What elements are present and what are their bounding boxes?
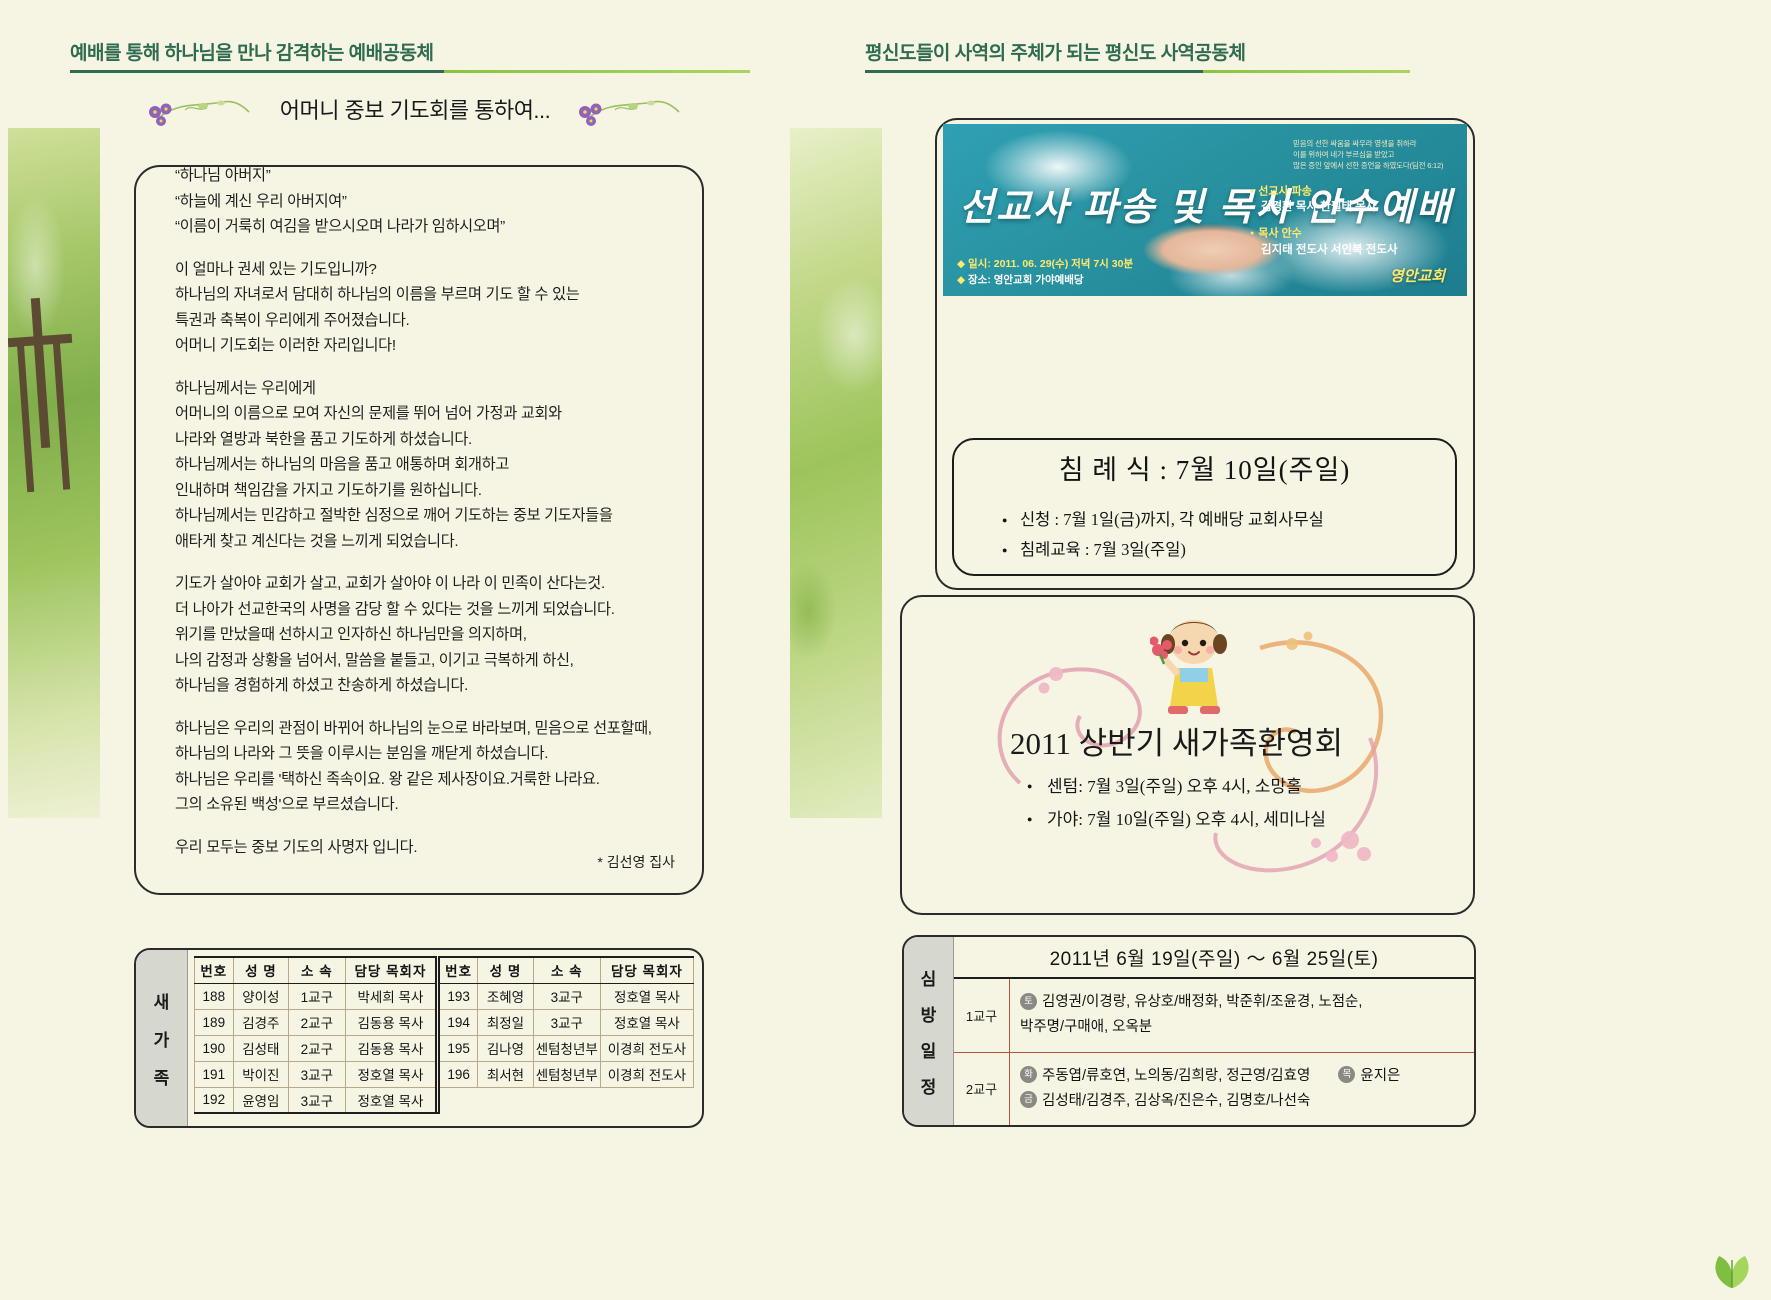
col-header-no: 번호 [195, 957, 234, 983]
poster-place: 장소: 영안교회 가야예배당 [957, 272, 1133, 288]
cell-no: 191 [195, 1061, 234, 1087]
visitation-segment: 금김성태/김경주, 김상옥/진은수, 김명호/나선숙 [1020, 1089, 1310, 1114]
cell-no: 189 [195, 1009, 234, 1035]
list-item: 센텀: 7월 3일(주일) 오후 4시, 소망홀 [1025, 770, 1445, 803]
visitation-name-text: 김영권/이경랑, 유상호/배정화, 박준휘/조윤경, 노점순, [1042, 994, 1362, 1010]
cell-group: 3교구 [533, 983, 600, 1009]
right-header-text: 평신도들이 사역의 주체가 되는 평신도 사역공동체 [865, 38, 1410, 70]
cell-pastor: 이경희 전도사 [600, 1035, 693, 1061]
list-item: 신청 : 7월 1일(금)까지, 각 예배당 교회사무실 [1000, 505, 1440, 535]
day-badge: 목 [1338, 1066, 1355, 1083]
poster-item-head: 목사 안수 [1250, 226, 1455, 241]
col-header-name: 성 명 [478, 957, 533, 983]
cell-group: 센텀청년부 [533, 1035, 600, 1061]
day-badge: 화 [1020, 1066, 1037, 1083]
visitation-names: 토김영권/이경랑, 유상호/배정화, 박준휘/조윤경, 노점순, 박주명/구매애… [1010, 985, 1474, 1045]
baptism-title: 침 례 식 : 7월 10일(주일) [952, 448, 1457, 487]
cell-name: 김경주 [233, 1009, 288, 1035]
cell-group: 센텀청년부 [533, 1061, 600, 1087]
table-row: 188 양이성 1교구 박세희 목사 193 조혜영 3교구 정호열 목사 [195, 983, 694, 1009]
cell-group: 2교구 [289, 1035, 346, 1061]
cell-pastor: 김동용 목사 [345, 1035, 436, 1061]
right-header-rule [865, 70, 1410, 73]
cell-pastor: 정호열 목사 [345, 1087, 436, 1113]
visitation-rows: 1교구 토김영권/이경랑, 유상호/배정화, 박준휘/조윤경, 노점순, 박주명… [954, 979, 1474, 1125]
visitation-line: 토김영권/이경랑, 유상호/배정화, 박준휘/조윤경, 노점순, [1020, 990, 1464, 1015]
left-page-header: 예배를 통해 하나님을 만나 감격하는 예배공동체 [70, 38, 750, 80]
visitation-district: 2교구 [954, 1053, 1010, 1126]
poster-footer: 일시: 2011. 06. 29(수) 저녁 7시 30분 장소: 영안교회 가… [957, 256, 1133, 288]
visitation-row: 1교구 토김영권/이경랑, 유상호/배정화, 박준휘/조윤경, 노점순, 박주명… [954, 979, 1474, 1053]
visitation-schedule-panel: 심 방 일 정 2011년 6월 19일(주일) ～ 6월 25일(토) 1교구… [902, 935, 1476, 1127]
side-label-char: 일 [921, 1037, 937, 1062]
cell-empty [533, 1087, 600, 1113]
cell-name: 윤영임 [233, 1087, 288, 1113]
poster-item-names: 김지태 전도사 서인복 전도사 [1250, 243, 1455, 258]
visitation-line: 화주동엽/류호연, 노의동/김희랑, 정근영/김효영 목윤지은 [1020, 1064, 1464, 1089]
article-paragraph: 기도가 살아야 교회가 살고, 교회가 살아야 이 나라 이 민족이 산다는것.… [175, 571, 675, 699]
cell-name: 최정일 [478, 1009, 533, 1035]
church-logo: 영안교회 [1390, 265, 1445, 286]
cell-pastor: 정호열 목사 [600, 1009, 693, 1035]
cell-no: 190 [195, 1035, 234, 1061]
side-label-char: 새 [154, 988, 170, 1013]
article-paragraph: 하나님은 우리의 관점이 바뀌어 하나님의 눈으로 바라보며, 믿음으로 선포할… [175, 716, 675, 818]
visitation-name-text: 주동엽/류호연, 노의동/김희랑, 정근영/김효영 [1042, 1068, 1310, 1084]
visitation-row: 2교구 화주동엽/류호연, 노의동/김희랑, 정근영/김효영 목윤지은 금김성태… [954, 1053, 1474, 1126]
article-title: 어머니 중보 기도회를 통하여... [130, 93, 700, 125]
cell-group: 3교구 [289, 1087, 346, 1113]
article-paragraph: 하나님께서는 우리에게 어머니의 이름으로 모여 자신의 문제를 뛰어 넘어 가… [175, 376, 675, 555]
visitation-name-text: 김성태/김경주, 김상옥/진은수, 김명호/나선숙 [1042, 1093, 1310, 1109]
cell-name: 양이성 [233, 983, 288, 1009]
cell-pastor: 정호열 목사 [600, 983, 693, 1009]
col-header-name: 성 명 [233, 957, 288, 983]
table-row: 190 김성태 2교구 김동용 목사 195 김나영 센텀청년부 이경희 전도사 [195, 1035, 694, 1061]
poster-datetime: 일시: 2011. 06. 29(수) 저녁 7시 30분 [957, 256, 1133, 272]
col-header-group: 소 속 [289, 957, 346, 983]
side-label-char: 방 [921, 1001, 937, 1026]
day-badge: 금 [1020, 1091, 1037, 1108]
list-item: 침례교육 : 7월 3일(주일) [1000, 535, 1440, 565]
cell-pastor: 김동용 목사 [345, 1009, 436, 1035]
cell-group: 1교구 [289, 983, 346, 1009]
poster-item-names: 김경환 목사 한필태 목사 [1250, 200, 1455, 215]
welcome-event-title: 2011 상반기 새가족환영회 [1010, 718, 1343, 763]
cell-pastor: 정호열 목사 [345, 1061, 436, 1087]
article-paragraph: “하나님 아버지” “하늘에 계신 우리 아버지여” “이름이 거룩히 여김을 … [175, 163, 675, 240]
table-header-row: 번호 성 명 소 속 담당 목회자 번호 성 명 소 속 담당 목회자 [195, 957, 694, 983]
new-family-side-label: 새 가 족 [136, 950, 188, 1126]
table-row: 191 박이진 3교구 정호열 목사 196 최서현 센텀청년부 이경희 전도사 [195, 1061, 694, 1087]
col-header-pastor: 담당 목회자 [600, 957, 693, 983]
col-header-pastor: 담당 목회자 [345, 957, 436, 983]
article-signature: * 김선영 집사 [175, 852, 675, 872]
cell-name: 김나영 [478, 1035, 533, 1061]
visitation-segment: 목윤지은 [1338, 1064, 1400, 1089]
girl-with-flowers-icon [1150, 612, 1236, 722]
side-label-char: 정 [921, 1073, 937, 1098]
cell-no: 194 [439, 1009, 478, 1035]
visitation-names: 화주동엽/류호연, 노의동/김희랑, 정근영/김효영 목윤지은 금김성태/김경주… [1010, 1059, 1474, 1119]
visitation-segment: 토김영권/이경랑, 유상호/배정화, 박준휘/조윤경, 노점순, [1020, 990, 1362, 1015]
article-paragraph: 이 얼마나 권세 있는 기도입니까? 하나님의 자녀로서 담대히 하나님의 이름… [175, 257, 675, 359]
cell-no: 192 [195, 1087, 234, 1113]
cell-pastor: 박세희 목사 [345, 983, 436, 1009]
col-header-no: 번호 [439, 957, 478, 983]
visitation-line: 금김성태/김경주, 김상옥/진은수, 김명호/나선숙 [1020, 1089, 1464, 1114]
cell-empty [600, 1087, 693, 1113]
visitation-side-label: 심 방 일 정 [904, 937, 954, 1125]
cell-name: 조혜영 [478, 983, 533, 1009]
side-label-char: 심 [921, 965, 937, 990]
new-family-table-area: 번호 성 명 소 속 담당 목회자 번호 성 명 소 속 담당 목회자 188 [188, 950, 702, 1126]
baptism-item-list: 신청 : 7월 1일(금)까지, 각 예배당 교회사무실 침례교육 : 7월 3… [1000, 505, 1440, 565]
cross-field-photo [8, 128, 100, 818]
poster-verse: 믿음의 선한 싸움을 싸우라 영생을 취하라 이를 위하여 네가 부르심을 받았… [1293, 138, 1453, 171]
left-header-text: 예배를 통해 하나님을 만나 감격하는 예배공동체 [70, 38, 750, 70]
welcome-event-list: 센텀: 7월 3일(주일) 오후 4시, 소망홀 가야: 7월 10일(주일) … [1025, 770, 1445, 836]
left-header-rule [70, 70, 750, 73]
side-label-char: 족 [154, 1064, 170, 1089]
cell-no: 196 [439, 1061, 478, 1087]
cell-pastor: 이경희 전도사 [600, 1061, 693, 1087]
left-page: 예배를 통해 하나님을 만나 감격하는 예배공동체 [0, 0, 885, 1300]
visitation-line: 박주명/구매애, 오옥분 [1020, 1015, 1464, 1040]
table-row: 189 김경주 2교구 김동용 목사 194 최정일 3교구 정호열 목사 [195, 1009, 694, 1035]
right-page-header: 평신도들이 사역의 주체가 되는 평신도 사역공동체 [865, 38, 1410, 80]
article-body: “하나님 아버지” “하늘에 계신 우리 아버지여” “이름이 거룩히 여김을 … [175, 163, 675, 877]
mission-ordination-poster: 믿음의 선한 싸움을 싸우라 영생을 취하라 이를 위하여 네가 부르심을 받았… [943, 124, 1467, 296]
col-header-group: 소 속 [533, 957, 600, 983]
new-family-table: 번호 성 명 소 속 담당 목회자 번호 성 명 소 속 담당 목회자 188 [194, 956, 694, 1114]
visitation-district: 1교구 [954, 979, 1010, 1052]
cell-no: 193 [439, 983, 478, 1009]
leaf-ornament-icon [1707, 1248, 1757, 1290]
cell-name: 김성태 [233, 1035, 288, 1061]
cell-group: 2교구 [289, 1009, 346, 1035]
side-label-char: 가 [154, 1026, 170, 1051]
new-family-table-panel: 새 가 족 번호 성 명 소 속 담당 목회자 번호 성 명 소 속 담당 목회… [134, 948, 704, 1128]
cell-empty [439, 1087, 478, 1113]
cell-empty [478, 1087, 533, 1113]
cell-group: 3교구 [289, 1061, 346, 1087]
visitation-name-text: 박주명/구매애, 오옥분 [1020, 1019, 1152, 1035]
cell-name: 최서현 [478, 1061, 533, 1087]
poster-item-list: 선교사 파송 김경환 목사 한필태 목사 목사 안수 김지태 전도사 서인복 전… [1250, 184, 1455, 269]
cell-no: 188 [195, 983, 234, 1009]
leaf-photo [790, 128, 882, 818]
table-row: 192 윤영임 3교구 정호열 목사 [195, 1087, 694, 1113]
day-badge: 토 [1020, 993, 1037, 1010]
visitation-main: 2011년 6월 19일(주일) ～ 6월 25일(토) 1교구 토김영권/이경… [954, 937, 1474, 1125]
cell-group: 3교구 [533, 1009, 600, 1035]
visitation-period: 2011년 6월 19일(주일) ～ 6월 25일(토) [954, 937, 1474, 979]
cell-no: 195 [439, 1035, 478, 1061]
list-item: 가야: 7월 10일(주일) 오후 4시, 세미나실 [1025, 803, 1445, 836]
poster-item-head: 선교사 파송 [1250, 184, 1455, 199]
visitation-segment: 화주동엽/류호연, 노의동/김희랑, 정근영/김효영 [1020, 1064, 1310, 1089]
cell-name: 박이진 [233, 1061, 288, 1087]
visitation-name-text: 윤지은 [1360, 1068, 1400, 1084]
